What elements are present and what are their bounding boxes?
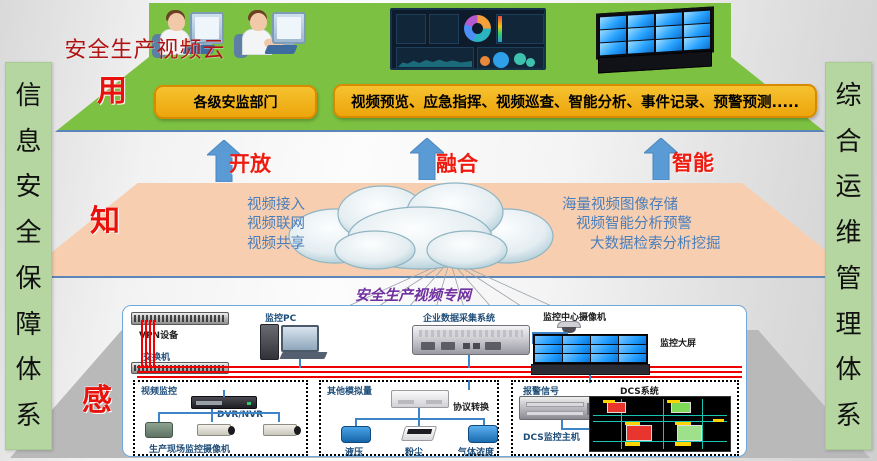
network-topology-panel: VPN设备 交换机 监控PC 企业数据采集系统	[122, 305, 747, 457]
banner-right-char-7: 系	[835, 403, 861, 429]
banner-left-char-4: 保	[15, 266, 41, 292]
head-2	[250, 13, 267, 31]
layer-tag-sense: 感	[82, 375, 112, 419]
label-video-surveillance: 视频监控	[141, 384, 177, 397]
pc-screen-icon	[281, 325, 319, 352]
label-data-collection: 企业数据采集系统	[423, 311, 495, 324]
bullet-camera-icon-1	[197, 424, 231, 436]
pill-platform-functions[interactable]: 视频预览、应急指挥、视频巡查、智能分析、事件记录、预警预测.....	[333, 84, 817, 118]
label-protocol-converter: 协议转换	[453, 400, 489, 413]
private-network-label: 安全生产视频专网	[355, 284, 471, 305]
video-wall-display	[592, 10, 720, 72]
banner-right-char-2: 运	[835, 174, 861, 200]
protocol-converter-icon	[391, 390, 449, 408]
sidebar-information-security-system: 信 息 安 全 保 障 体 系	[5, 62, 52, 450]
label-analog-quantity: 其他模拟量	[327, 384, 372, 397]
pill-safety-departments[interactable]: 各级安监部门	[154, 85, 317, 119]
data-collection-server-icon	[412, 325, 530, 355]
label-dcs-host: DCS监控主机	[523, 430, 580, 443]
banner-left-char-3: 全	[15, 220, 41, 246]
banner-left-char-6: 体	[15, 357, 41, 383]
banner-left-char-5: 障	[15, 312, 41, 338]
control-room-video-wall-icon	[533, 334, 648, 364]
label-sensor-dust: 粉尘	[405, 445, 423, 457]
banner-right-char-6: 体	[835, 357, 861, 383]
dust-sensor-icon	[401, 426, 437, 441]
label-switch: 交换机	[143, 350, 170, 363]
banner-right-char-3: 维	[835, 220, 861, 246]
cloud-capabilities-left: 视频接入 视频联网 视频共享	[140, 196, 305, 254]
bullet-camera-icon-2	[263, 424, 297, 436]
layer-tag-use: 用	[97, 66, 127, 110]
banner-left-char-2: 安	[15, 174, 41, 200]
banner-right-char-5: 理	[835, 312, 861, 338]
gas-sensor-icon	[468, 425, 498, 443]
sidebar-integrated-ops-management-system: 综 合 运 维 管 理 体 系	[825, 62, 872, 450]
head-1	[168, 13, 185, 31]
banner-left-char-7: 系	[15, 403, 41, 429]
banner-right-char-4: 管	[835, 266, 861, 292]
banner-right-char-1: 合	[835, 129, 861, 155]
video-cloud-shape	[275, 178, 565, 273]
label-video-wall: 监控大屏	[660, 336, 696, 349]
label-site-cameras: 生产现场监控摄像机	[149, 442, 230, 455]
layer-tag-know: 知	[90, 196, 120, 240]
pc-keyboard-icon	[279, 352, 327, 359]
dcs-scada-screenshot	[589, 396, 731, 452]
label-sensor-gas: 气体浓度	[458, 445, 494, 457]
ptz-camera-icon	[145, 422, 173, 438]
cloud-title: 安全生产视频云	[0, 32, 290, 64]
label-sensor-hydraulic: 液压	[345, 445, 363, 457]
pc-tower-icon	[260, 324, 279, 360]
banner-left-char-1: 息	[15, 129, 41, 155]
analytics-dashboard-screenshot	[390, 8, 546, 70]
arrow-label-open: 开放	[229, 148, 271, 178]
dvr-nvr-icon	[191, 396, 257, 409]
hydraulic-sensor-icon	[341, 426, 371, 443]
banner-right-char-0: 综	[835, 83, 861, 109]
arrow-label-intelligent: 智能	[672, 147, 714, 177]
banner-left-char-0: 信	[15, 83, 41, 109]
label-monitor-pc: 监控PC	[265, 311, 296, 324]
arrow-label-fusion: 融合	[436, 148, 478, 178]
diagram-canvas: 用 知 感 各级安监部门 视频预览、应急指挥、视频巡查、智能分析、事件记录、预警…	[0, 0, 877, 461]
cloud-capabilities-right: 海量视频图像存储 视频智能分析预警 大数据检索分析挖掘	[562, 196, 721, 254]
